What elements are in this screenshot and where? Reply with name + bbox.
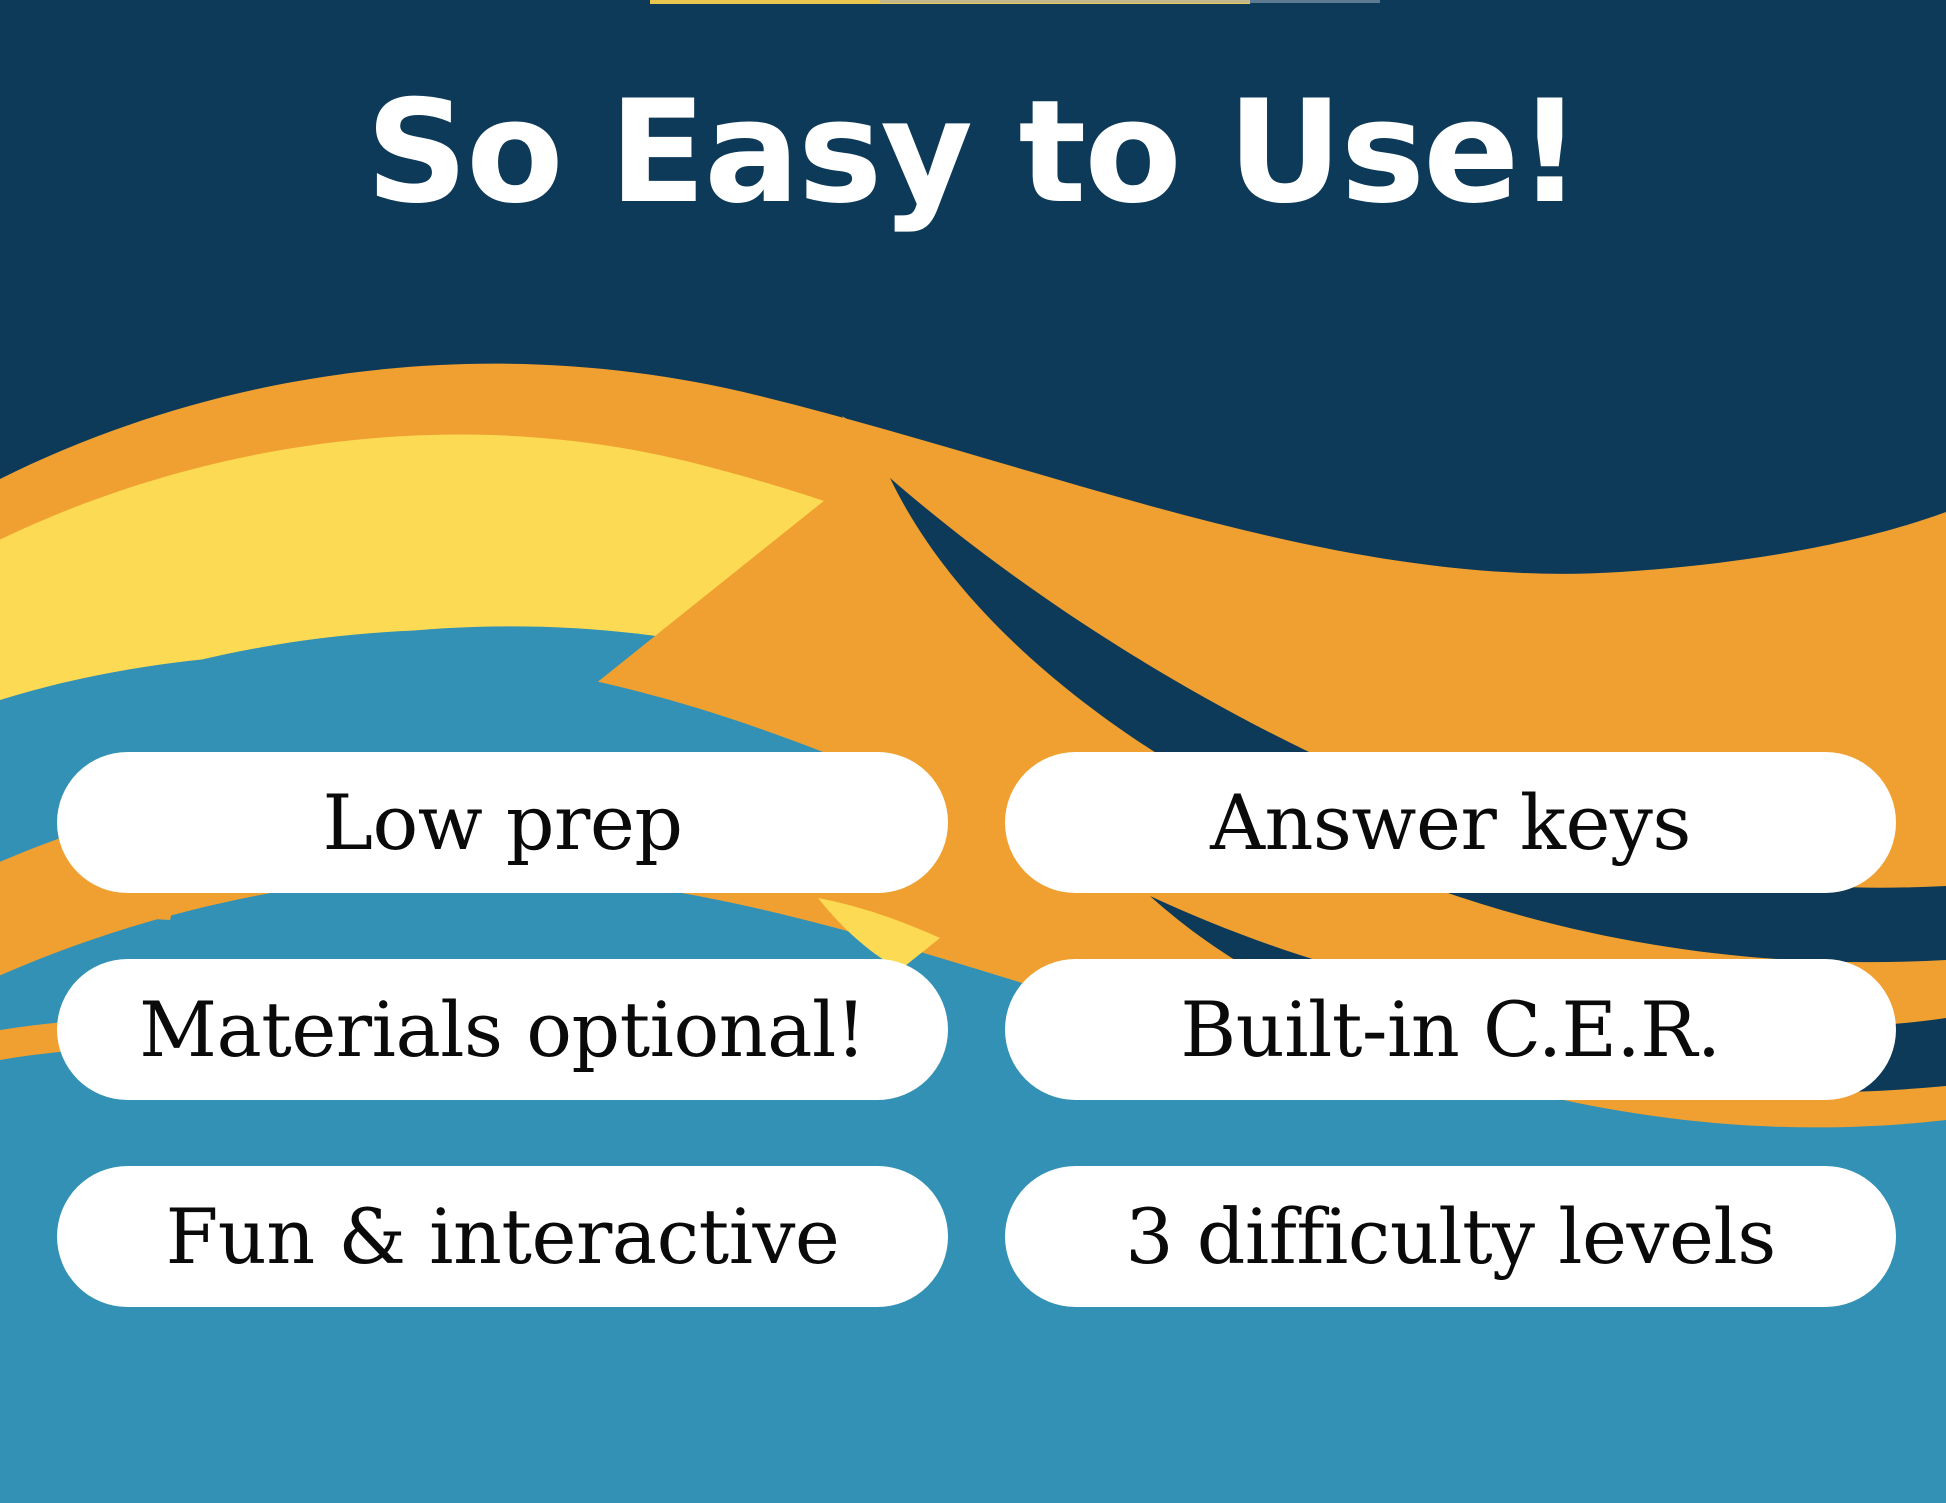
feature-pill-difficulty-levels[interactable]: 3 difficulty levels xyxy=(1005,1166,1896,1307)
page-title: So Easy to Use! xyxy=(0,78,1946,227)
feature-pill-fun-interactive[interactable]: Fun & interactive xyxy=(57,1166,948,1307)
feature-pill-label: Built-in C.E.R. xyxy=(1180,992,1720,1068)
feature-pill-label: 3 difficulty levels xyxy=(1125,1199,1776,1275)
page-title-text: So Easy to Use! xyxy=(366,78,1580,227)
feature-pill-built-in-cer[interactable]: Built-in C.E.R. xyxy=(1005,959,1896,1100)
feature-pill-label: Low prep xyxy=(322,785,682,861)
feature-pill-low-prep[interactable]: Low prep xyxy=(57,752,948,893)
ghost-text-line xyxy=(880,0,1380,3)
slide-canvas: So Easy to Use! Low prep Answer keys Mat… xyxy=(0,0,1946,1503)
feature-pill-label: Fun & interactive xyxy=(166,1199,840,1275)
feature-pill-label: Materials optional! xyxy=(139,992,866,1068)
feature-pill-grid: Low prep Answer keys Materials optional!… xyxy=(57,752,1897,1307)
top-edge-strip xyxy=(0,0,1946,5)
feature-pill-label: Answer keys xyxy=(1210,785,1691,861)
feature-pill-answer-keys[interactable]: Answer keys xyxy=(1005,752,1896,893)
feature-pill-materials-optional[interactable]: Materials optional! xyxy=(57,959,948,1100)
